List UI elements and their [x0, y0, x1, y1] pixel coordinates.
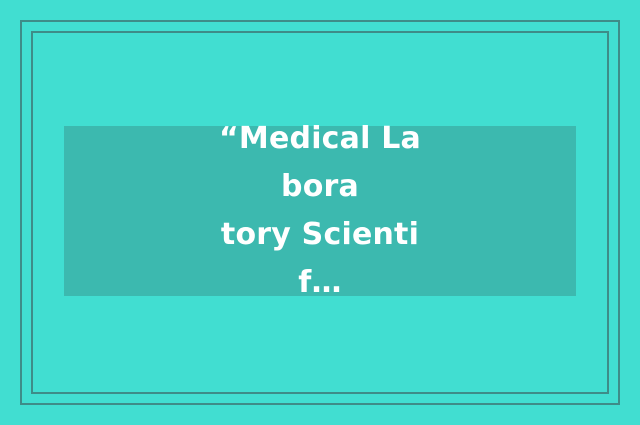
quote-text: “Medical Labora tory Scientif…: [215, 115, 425, 307]
quote-card: “Medical Labora tory Scientif…: [0, 0, 640, 425]
quote-band: “Medical Labora tory Scientif…: [64, 126, 576, 296]
